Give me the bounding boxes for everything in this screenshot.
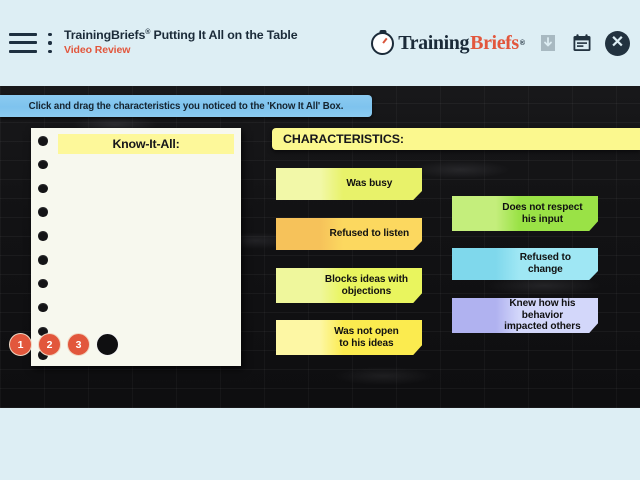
pagination-dot-4[interactable]	[96, 333, 119, 356]
notepad-holes	[38, 136, 50, 360]
characteristic-card-label: Refused to change	[452, 252, 598, 276]
header-right-group: TrainingBriefs® ✕	[371, 0, 630, 86]
hamburger-line	[9, 41, 37, 44]
hamburger-icon[interactable]	[9, 33, 37, 53]
slide-stage: Click and drag the characteristics you n…	[0, 86, 640, 408]
instruction-banner: Click and drag the characteristics you n…	[0, 95, 372, 117]
notepad-hole	[38, 279, 48, 289]
characteristic-card-was-not-open-to-his-ideas[interactable]: Was not open to his ideas	[276, 320, 422, 355]
characteristic-card-label: Refused to listen	[280, 228, 418, 240]
page-title-rest: Putting It All on the Table	[150, 28, 297, 42]
notes-icon[interactable]	[571, 32, 593, 54]
characteristics-title: CHARACTERISTICS:	[283, 132, 404, 146]
notepad-hole	[38, 136, 48, 146]
pagination-dot-1[interactable]: 1	[9, 333, 32, 356]
logo-text-briefs: Briefs	[470, 32, 519, 55]
stopwatch-icon	[371, 32, 394, 55]
notepad-hole	[38, 184, 48, 194]
characteristic-card-label: Was busy	[297, 178, 402, 190]
characteristic-card-was-busy[interactable]: Was busy	[276, 168, 422, 200]
characteristics-header: CHARACTERISTICS:	[272, 128, 640, 150]
know-it-all-dropzone[interactable]: Know-It-All:	[31, 128, 241, 366]
characteristic-card-label: Blocks ideas with objections	[281, 274, 417, 298]
dot	[48, 41, 51, 44]
page-title-brand: TrainingBriefs	[64, 28, 145, 42]
vertical-dots-icon[interactable]	[46, 33, 54, 53]
page-subtitle: Video Review	[64, 45, 297, 57]
footer-area	[0, 408, 640, 480]
header-left-group: TrainingBriefs® Putting It All on the Ta…	[0, 29, 297, 57]
characteristic-card-label: Knew how his behavior impacted others	[452, 298, 598, 334]
notepad-hole	[38, 255, 48, 265]
close-glyph: ✕	[611, 35, 624, 51]
notepad-header: Know-It-All:	[58, 134, 234, 154]
notepad-hole	[38, 160, 48, 170]
download-icon[interactable]	[537, 32, 559, 54]
hamburger-line	[9, 50, 37, 53]
characteristic-card-blocks-ideas-with-objections[interactable]: Blocks ideas with objections	[276, 268, 422, 303]
notepad-hole	[38, 231, 48, 241]
slide-root: TrainingBriefs® Putting It All on the Ta…	[0, 0, 640, 480]
page-title: TrainingBriefs® Putting It All on the Ta…	[64, 29, 297, 43]
trainingbriefs-logo: TrainingBriefs®	[371, 32, 525, 55]
pagination: 123	[9, 333, 119, 356]
characteristic-card-refused-to-change[interactable]: Refused to change	[452, 248, 598, 280]
characteristic-card-label: Was not open to his ideas	[290, 326, 407, 350]
pagination-dot-3[interactable]: 3	[67, 333, 90, 356]
notepad-hole	[38, 207, 48, 217]
characteristic-card-knew-how-his-behavior-impacted-others[interactable]: Knew how his behavior impacted others	[452, 298, 598, 333]
header-titles: TrainingBriefs® Putting It All on the Ta…	[64, 29, 297, 57]
characteristic-card-label: Does not respect his input	[458, 202, 591, 226]
pagination-dot-2[interactable]: 2	[38, 333, 61, 356]
logo-registered-mark: ®	[520, 40, 525, 47]
dot	[48, 33, 51, 36]
notepad-body[interactable]	[58, 158, 234, 358]
notepad-title: Know-It-All:	[112, 137, 179, 151]
characteristic-card-does-not-respect-his-input[interactable]: Does not respect his input	[452, 196, 598, 231]
instruction-text: Click and drag the characteristics you n…	[29, 101, 344, 112]
characteristic-card-refused-to-listen[interactable]: Refused to listen	[276, 218, 422, 250]
close-icon[interactable]: ✕	[605, 31, 630, 56]
notepad-hole	[38, 303, 48, 313]
app-header: TrainingBriefs® Putting It All on the Ta…	[0, 0, 640, 86]
hamburger-line	[9, 33, 37, 36]
dot	[48, 50, 51, 53]
logo-text-training: Training	[398, 32, 469, 55]
